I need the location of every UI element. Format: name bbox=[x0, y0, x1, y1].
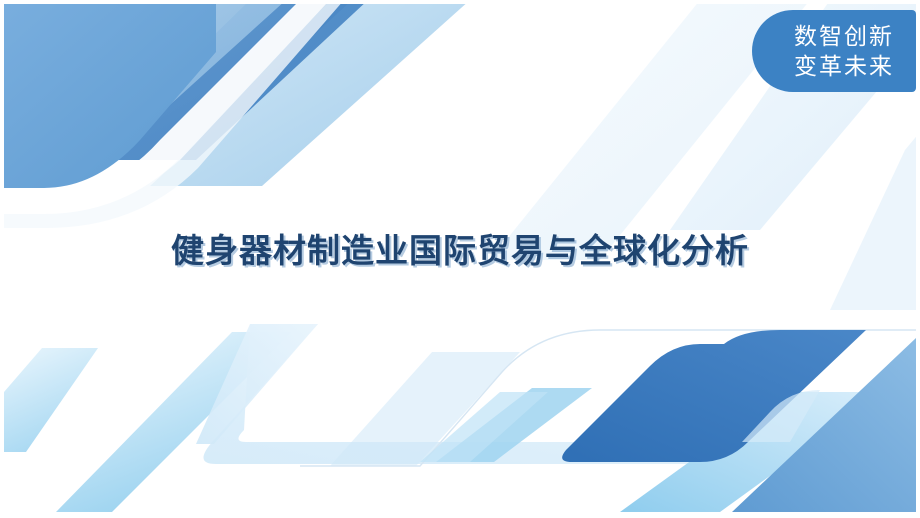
title-container: 健身器材制造业国际贸易与全球化分析 bbox=[0, 228, 920, 274]
badge-line-2: 变革未来 bbox=[794, 51, 894, 81]
title-slide: 数智创新 变革未来 健身器材制造业国际贸易与全球化分析 bbox=[0, 0, 920, 518]
page-title: 健身器材制造业国际贸易与全球化分析 bbox=[171, 228, 749, 274]
corner-badge: 数智创新 变革未来 bbox=[752, 10, 916, 92]
badge-line-1: 数智创新 bbox=[794, 21, 894, 51]
